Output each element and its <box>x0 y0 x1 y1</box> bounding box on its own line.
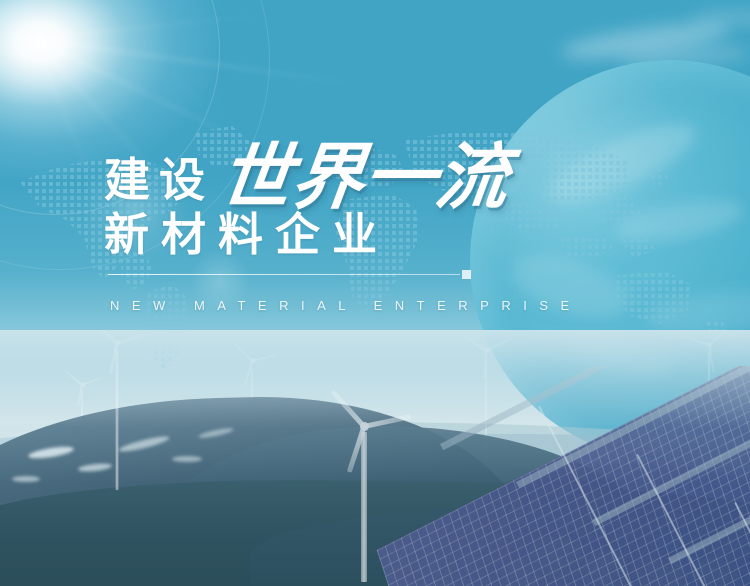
turbine-blade <box>486 338 512 352</box>
wind-turbine-icon <box>86 340 148 490</box>
landscape-photo <box>0 330 750 586</box>
turbine-blade <box>233 342 252 362</box>
turbine-blade <box>462 335 486 352</box>
hero-banner: 建设 世界一流 新材料企业 NEW MATERIAL ENTERPRISE <box>0 0 750 586</box>
dotted-world-map-icon <box>0 70 750 370</box>
turbine-blade <box>252 354 278 362</box>
snow-patch <box>172 456 202 462</box>
turbine-blade <box>708 330 731 346</box>
turbine-tower <box>361 432 367 582</box>
solar-panel-array-icon <box>370 366 750 586</box>
turbine-blade <box>682 334 709 345</box>
snow-patch <box>12 476 40 482</box>
turbine-blade <box>93 330 118 345</box>
turbine-blade <box>117 332 147 344</box>
turbine-blade <box>65 370 83 386</box>
turbine-tower <box>116 350 119 490</box>
